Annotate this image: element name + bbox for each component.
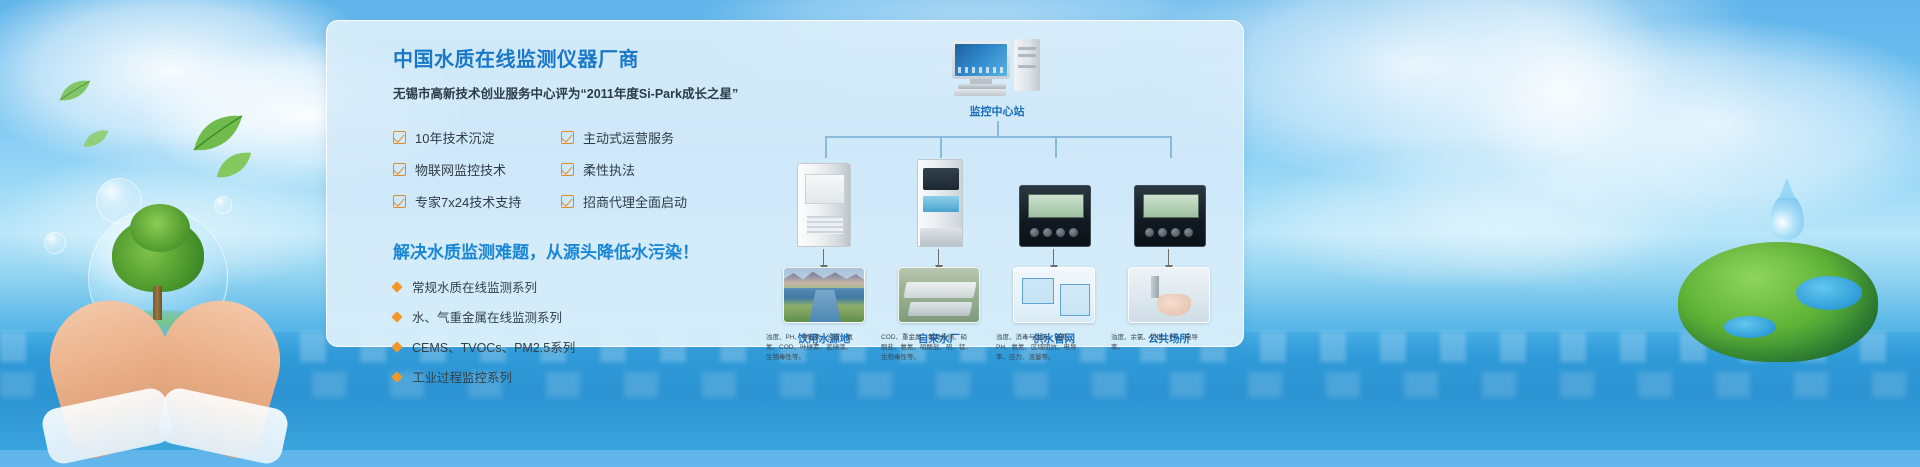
pc-tower-icon [1014, 39, 1040, 91]
keyboard-icon [954, 89, 1006, 96]
checklist-item-label: 物联网监控技术 [415, 160, 506, 179]
leaf-icon [214, 150, 254, 180]
device-indicator [923, 196, 959, 212]
connector-horizontal [825, 136, 1170, 138]
scene-photo-waterworks [898, 267, 980, 323]
connector-branch [1170, 136, 1172, 158]
diamond-bullet-icon [391, 341, 402, 352]
diamond-bullet-icon [391, 311, 402, 322]
scene-photo-public-place [1128, 267, 1210, 323]
diamond-bullet-icon [391, 371, 402, 382]
page-title: 中国水质在线监测仪器厂商 [393, 43, 773, 72]
checklist-item-label: 主动式运营服务 [583, 128, 674, 147]
leaf-icon [58, 78, 92, 104]
checkbox-icon [561, 131, 574, 144]
checkbox-icon [561, 195, 574, 208]
globe-lake [1724, 316, 1776, 338]
device-button [1171, 228, 1180, 237]
tower-slot [1018, 65, 1036, 68]
connector-branch [940, 136, 942, 158]
scene-photo-water-network [1013, 267, 1095, 323]
checklist-item: 物联网监控技术 [393, 160, 553, 179]
globe-lake [1796, 276, 1862, 310]
device-button [1030, 228, 1039, 237]
monitoring-center-computer-icon [952, 39, 1044, 97]
connector-branch [1055, 136, 1057, 158]
leaf-icon [82, 128, 110, 150]
checklist-item-label: 10年技术沉淀 [415, 128, 494, 147]
list-item: 常规水质在线监测系列 [393, 277, 773, 296]
device-base [920, 228, 962, 246]
left-text-column: 中国水质在线监测仪器厂商 无锡市高新技术创业服务中心评为“2011年度Si-Pa… [393, 43, 773, 397]
section-subheading: 解决水质监测难题，从源头降低水污染！ [393, 238, 773, 263]
checklist-item: 专家7x24技术支持 [393, 192, 553, 211]
checklist-item: 柔性执法 [561, 160, 773, 179]
checkbox-icon [561, 163, 574, 176]
device-button [1056, 228, 1065, 237]
earth-globe-illustration [1668, 242, 1888, 392]
scene-description: 浊度、PH、溶解氧、浊度、氨氮、COD、叶绿素、蓝绿藻、生物毒性等。 [766, 333, 858, 363]
device-panel [805, 174, 845, 204]
checkbox-icon [393, 131, 406, 144]
list-item-label: 常规水质在线监测系列 [412, 277, 537, 296]
list-item-label: 水、气重金属在线监测系列 [412, 307, 562, 326]
device-button [1043, 228, 1052, 237]
device-cabinet-analyzer [797, 163, 851, 247]
cloud-decoration [1480, 20, 1920, 230]
monitor-screen [955, 44, 1007, 76]
tree-trunk [153, 286, 162, 320]
device-panel-controller [1019, 185, 1091, 247]
device-lcd-screen [1028, 194, 1084, 218]
device-display [923, 168, 959, 190]
device-panel-transmitter [1134, 185, 1206, 247]
connector-branch [825, 136, 827, 158]
device-vent [807, 216, 843, 234]
scene-description: 浊度、余氯、色度、PH、电导率。 [1111, 333, 1203, 353]
list-item-label: 工业过程监控系列 [412, 367, 512, 386]
checklist-item: 10年技术沉淀 [393, 128, 553, 147]
checkbox-icon [393, 163, 406, 176]
scene-description: 浊度、消毒与余氯、温度、PH、氨氮、区域阻抗、电导率、压力、流量等。 [996, 333, 1088, 363]
tree-canopy-top [130, 204, 190, 252]
page-subtitle: 无锡市高新技术创业服务中心评为“2011年度Si-Park成长之星” [393, 83, 773, 102]
feature-checklist: 10年技术沉淀 主动式运营服务 物联网监控技术 柔性执法 专家7x24技术支持 … [393, 128, 773, 211]
leaf-icon [190, 112, 246, 154]
tower-slot [1018, 54, 1036, 57]
diamond-bullet-icon [391, 281, 402, 292]
cloud-decoration [1250, 150, 1670, 290]
checklist-item-label: 专家7x24技术支持 [415, 192, 521, 211]
scene-description-row: 浊度、PH、溶解氧、浊度、氨氮、COD、叶绿素、蓝绿藻、生物毒性等。 COD、重… [766, 333, 1226, 373]
product-series-list: 常规水质在线监测系列 水、气重金属在线监测系列 CEMS、TVOCs、PM2.5… [393, 277, 773, 386]
checklist-item-label: 柔性执法 [583, 160, 635, 179]
device-buttons [1030, 224, 1082, 240]
globe-land [1678, 242, 1878, 362]
list-item: 工业过程监控系列 [393, 367, 773, 386]
application-scene-row [767, 267, 1222, 339]
checklist-item: 主动式运营服务 [561, 128, 773, 147]
list-item-label: CEMS、TVOCs、PM2.5系列 [412, 337, 575, 356]
scene-photo-drinking-water-source [783, 267, 865, 323]
hands-holding-tree-illustration [60, 190, 290, 450]
device-button [1184, 228, 1193, 237]
checkbox-icon [393, 195, 406, 208]
tower-slot [1018, 47, 1036, 50]
device-button [1069, 228, 1078, 237]
device-buttons [1145, 224, 1197, 240]
device-button [1158, 228, 1167, 237]
device-lcd-screen [1143, 194, 1199, 218]
list-item: 水、气重金属在线监测系列 [393, 307, 773, 326]
main-content-card: 中国水质在线监测仪器厂商 无锡市高新技术创业服务中心评为“2011年度Si-Pa… [326, 20, 1244, 347]
device-rack-analyzer [917, 159, 963, 247]
scene-description: COD、重金属、氨氮检测、硝酸盐、氨氮、硝酸盐、矾、锰、生物毒性等。 [881, 333, 973, 363]
water-droplet-icon [1770, 194, 1804, 240]
device-button [1145, 228, 1154, 237]
system-topology-diagram: 监控中心站 [767, 39, 1222, 339]
connector-vertical [997, 121, 999, 137]
monitor-icon [952, 41, 1010, 79]
list-item: CEMS、TVOCs、PM2.5系列 [393, 337, 773, 356]
monitoring-center-label: 监控中心站 [917, 103, 1077, 119]
checklist-item: 招商代理全面启动 [561, 192, 773, 211]
checklist-item-label: 招商代理全面启动 [583, 192, 687, 211]
device-row [767, 157, 1222, 247]
cloud-decoration [0, 0, 380, 170]
